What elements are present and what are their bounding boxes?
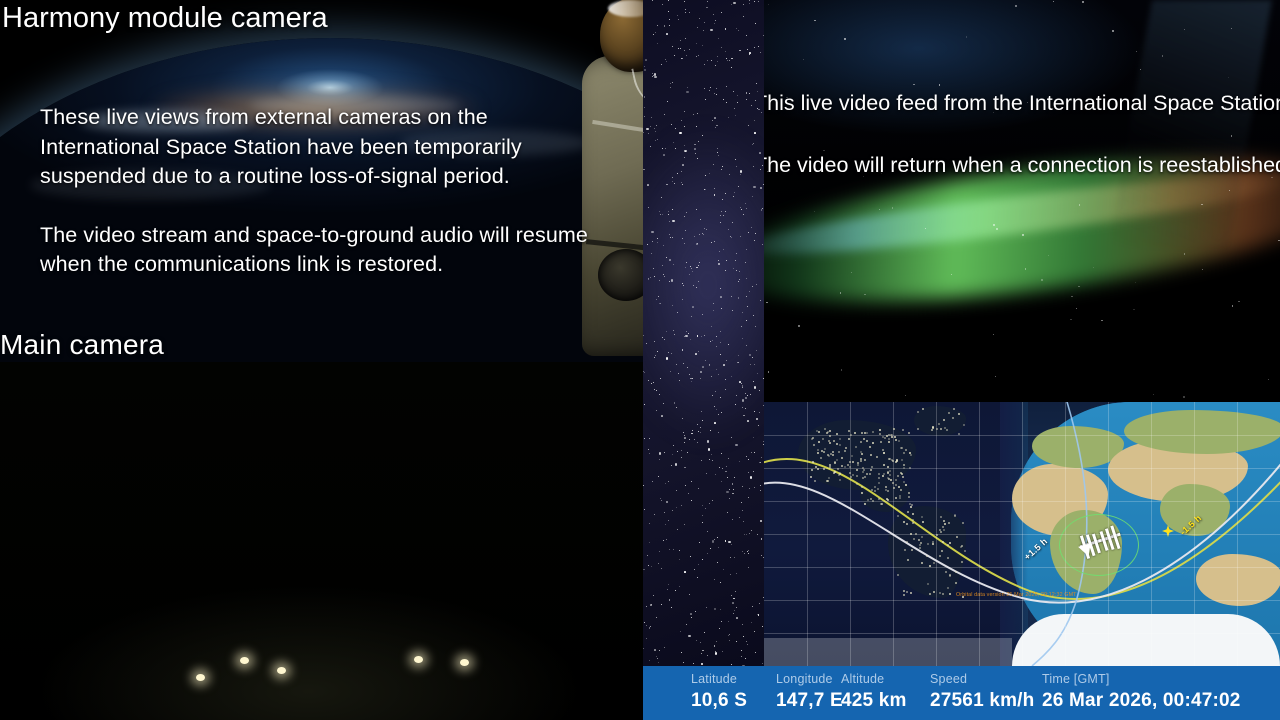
star — [679, 132, 681, 134]
star — [742, 486, 743, 487]
star — [760, 490, 761, 491]
star — [736, 607, 737, 608]
star — [715, 652, 717, 654]
star — [737, 95, 738, 96]
city-light — [838, 451, 840, 453]
star — [696, 640, 697, 641]
city-light — [881, 503, 883, 505]
star — [736, 166, 737, 167]
star — [1203, 100, 1204, 101]
star — [644, 107, 645, 108]
video-wall: These live views from external cameras o… — [0, 0, 1280, 720]
star — [653, 595, 654, 596]
star — [709, 90, 710, 91]
star — [720, 296, 722, 298]
star — [723, 99, 724, 100]
star — [1201, 204, 1202, 205]
telemetry-field: Time [GMT]26 Mar 2026, 00:47:02 — [1042, 672, 1241, 713]
star — [686, 212, 687, 213]
star — [691, 617, 692, 618]
star — [738, 30, 739, 31]
star — [748, 472, 749, 473]
star — [646, 625, 647, 626]
city-light — [917, 428, 919, 430]
star — [753, 143, 754, 144]
city-light — [958, 413, 960, 415]
star — [1202, 269, 1203, 270]
map-version-note: Orbital data version 25 Mar 2026, 20:12:… — [956, 592, 1077, 598]
city-light — [910, 592, 912, 594]
star — [665, 59, 666, 60]
star — [1225, 107, 1226, 108]
star — [754, 452, 755, 453]
star — [704, 22, 705, 23]
star — [733, 489, 734, 490]
city-light — [903, 594, 905, 596]
city-light — [844, 466, 846, 468]
star — [685, 267, 686, 268]
city-light — [818, 441, 820, 443]
star — [712, 500, 713, 501]
star — [727, 512, 728, 513]
star — [728, 229, 729, 230]
star — [698, 55, 699, 56]
city-light — [866, 440, 868, 442]
star — [716, 125, 718, 127]
star — [735, 404, 736, 405]
star — [672, 220, 674, 222]
star — [652, 73, 653, 74]
star — [702, 45, 703, 46]
star — [675, 463, 677, 465]
star — [734, 477, 735, 478]
milky-way-glow — [643, 120, 764, 450]
star — [701, 460, 702, 461]
star — [684, 437, 686, 439]
star — [663, 540, 664, 541]
star — [661, 64, 662, 65]
city-light — [841, 465, 843, 467]
star — [738, 297, 740, 299]
city-light — [897, 515, 899, 517]
star — [731, 4, 732, 5]
city-light — [854, 432, 856, 434]
city-light — [938, 423, 940, 425]
star — [698, 488, 699, 489]
star — [668, 0, 669, 1]
city-light — [943, 529, 945, 531]
star — [656, 410, 657, 411]
harmony-message: This live video feed from the Internatio… — [764, 88, 1280, 180]
star — [681, 120, 682, 121]
harmony-camera-label: Harmony module camera — [2, 2, 328, 34]
star — [727, 60, 728, 61]
city-light — [941, 550, 943, 552]
star — [722, 468, 723, 469]
star — [735, 591, 736, 592]
city-light — [878, 473, 880, 475]
telemetry-field-value: 425 km — [841, 689, 907, 713]
star — [657, 43, 658, 44]
star — [665, 483, 666, 484]
telemetry-field-label: Speed — [930, 672, 1034, 687]
harmony-message-p2: The video will return when a connection … — [764, 150, 1280, 181]
star — [725, 471, 727, 473]
star — [653, 34, 654, 35]
star — [737, 102, 738, 103]
star — [728, 458, 729, 459]
star — [723, 364, 725, 366]
star — [705, 508, 706, 509]
star — [702, 515, 703, 516]
star — [672, 82, 673, 83]
star — [654, 128, 655, 129]
star — [754, 120, 755, 121]
star — [662, 4, 663, 5]
star — [732, 493, 734, 495]
star — [664, 452, 665, 453]
star — [725, 211, 726, 212]
city-light — [940, 516, 942, 518]
star — [682, 283, 683, 284]
star — [744, 534, 745, 535]
star — [647, 184, 649, 186]
city-light — [877, 488, 879, 490]
star — [1082, 1, 1083, 2]
city-light — [889, 470, 891, 472]
star — [993, 224, 994, 225]
star — [706, 607, 707, 608]
star — [756, 83, 757, 84]
city-light — [841, 457, 843, 459]
star — [689, 49, 690, 50]
star — [732, 483, 734, 485]
star — [669, 25, 670, 26]
star — [674, 183, 675, 184]
city-light — [856, 469, 858, 471]
star — [671, 353, 672, 354]
star — [748, 553, 749, 554]
star — [646, 128, 648, 130]
telemetry-field-label: Altitude — [841, 672, 907, 687]
star — [654, 357, 655, 358]
star — [670, 237, 671, 238]
star — [736, 270, 737, 271]
city-light — [869, 473, 871, 475]
star — [684, 524, 685, 525]
star — [721, 12, 722, 13]
star — [697, 113, 698, 114]
city-light — [864, 503, 866, 505]
star — [717, 56, 718, 57]
star — [736, 573, 737, 574]
main-camera-feed[interactable]: These live views from external cameras o… — [0, 0, 643, 362]
artemis-base-feed[interactable]: Artemis II base — [0, 362, 643, 720]
star — [658, 476, 659, 477]
star — [714, 422, 716, 424]
star — [685, 485, 686, 486]
star — [714, 93, 715, 94]
star — [1184, 29, 1185, 30]
city-light — [958, 433, 960, 435]
star — [1112, 30, 1113, 31]
city-light — [888, 441, 890, 443]
city-light — [896, 460, 898, 462]
star — [652, 0, 653, 1]
star — [755, 23, 756, 24]
city-light — [912, 522, 914, 524]
star — [671, 465, 673, 467]
star — [663, 245, 664, 246]
star — [719, 467, 720, 468]
star — [761, 457, 762, 458]
star — [681, 450, 682, 451]
star — [718, 414, 719, 415]
star — [717, 537, 718, 538]
star — [748, 459, 749, 460]
city-light — [963, 424, 965, 426]
city-light — [942, 526, 944, 528]
launch-pad-scene — [0, 362, 643, 720]
city-light — [949, 574, 951, 576]
star — [651, 566, 652, 567]
star — [753, 186, 755, 188]
star — [686, 624, 687, 625]
star — [735, 444, 737, 446]
star — [726, 466, 727, 467]
star — [681, 652, 682, 653]
star — [646, 606, 647, 607]
star — [656, 125, 657, 126]
city-light — [909, 452, 911, 454]
city-light — [879, 429, 881, 431]
star — [760, 169, 761, 170]
star — [659, 452, 661, 454]
star — [745, 658, 746, 659]
star — [698, 265, 699, 266]
star — [681, 505, 682, 506]
star — [685, 335, 687, 337]
star — [655, 32, 656, 33]
telemetry-field: Altitude425 km — [841, 672, 907, 713]
star — [662, 148, 663, 149]
star — [666, 357, 668, 359]
star — [703, 30, 704, 31]
star — [687, 367, 688, 368]
city-light — [940, 428, 942, 430]
city-light — [933, 591, 935, 593]
starfield-feed[interactable] — [643, 0, 764, 666]
star — [1278, 240, 1279, 241]
city-light — [936, 428, 938, 430]
star — [656, 656, 657, 657]
pad-light — [196, 674, 205, 681]
star — [736, 641, 737, 642]
star — [734, 557, 735, 558]
star — [672, 454, 673, 455]
star — [644, 116, 645, 117]
star — [682, 58, 683, 59]
star — [748, 125, 749, 126]
star — [753, 437, 754, 438]
star — [728, 344, 729, 345]
star — [725, 51, 726, 52]
star — [720, 342, 721, 343]
star — [760, 462, 761, 463]
pad-light — [277, 667, 286, 674]
star — [1041, 279, 1042, 280]
star — [729, 634, 730, 635]
star — [1079, 204, 1080, 205]
star — [755, 233, 756, 234]
city-light — [869, 446, 871, 448]
city-light — [888, 438, 890, 440]
star — [691, 500, 692, 501]
star — [667, 101, 668, 102]
star — [741, 502, 742, 503]
star — [735, 115, 736, 116]
city-light — [910, 454, 912, 456]
star — [711, 60, 712, 61]
star — [707, 440, 709, 442]
star — [758, 425, 759, 426]
star — [648, 565, 649, 566]
star — [1183, 396, 1184, 397]
city-light — [836, 443, 838, 445]
star — [657, 658, 658, 659]
star — [644, 622, 645, 623]
city-light — [911, 549, 913, 551]
star — [717, 148, 718, 149]
city-light — [903, 464, 905, 466]
star — [664, 25, 666, 27]
star — [722, 651, 723, 652]
star — [673, 549, 674, 550]
star — [644, 509, 645, 510]
star — [697, 335, 699, 337]
star — [654, 649, 656, 651]
star — [666, 184, 668, 186]
star — [707, 553, 708, 554]
star — [758, 1, 759, 2]
star — [742, 551, 743, 552]
star — [736, 28, 737, 29]
star — [657, 238, 658, 239]
star — [691, 316, 692, 317]
city-light — [899, 497, 901, 499]
city-light — [932, 543, 934, 545]
star — [749, 3, 750, 4]
star — [678, 19, 679, 20]
star — [743, 16, 744, 17]
star — [663, 154, 665, 156]
star — [689, 374, 690, 375]
star — [684, 571, 686, 573]
star — [691, 481, 692, 482]
city-light — [867, 499, 869, 501]
city-light — [818, 431, 820, 433]
star — [673, 445, 674, 446]
iss-tracking-map[interactable]: -1.5 h +1.5 h Orbital data version 25 Ma… — [764, 402, 1280, 666]
star — [714, 579, 715, 580]
star — [751, 105, 752, 106]
star — [741, 326, 742, 327]
star — [758, 614, 760, 616]
star — [709, 459, 710, 460]
star — [752, 144, 753, 145]
star — [755, 100, 756, 101]
city-light — [919, 547, 921, 549]
city-light — [905, 449, 907, 451]
star — [659, 303, 660, 304]
star — [661, 500, 662, 501]
star — [679, 559, 680, 560]
star — [647, 555, 648, 556]
star — [1133, 309, 1134, 310]
city-light — [829, 442, 831, 444]
star — [643, 648, 644, 649]
star — [692, 430, 693, 431]
star — [733, 268, 734, 269]
star — [699, 262, 700, 263]
star — [667, 589, 668, 590]
star — [757, 534, 758, 535]
star — [661, 415, 663, 417]
main-camera-message: These live views from external cameras o… — [40, 103, 610, 280]
star — [734, 108, 735, 109]
star — [851, 107, 852, 108]
star — [753, 381, 754, 382]
star — [742, 624, 743, 625]
star — [731, 544, 732, 545]
star — [733, 613, 734, 614]
star — [755, 326, 756, 327]
star — [712, 340, 713, 341]
star — [699, 542, 700, 543]
star — [768, 4, 769, 5]
star — [681, 457, 682, 458]
city-light — [895, 439, 897, 441]
star — [686, 91, 688, 93]
star — [749, 0, 750, 1]
star — [757, 91, 758, 92]
star — [728, 541, 730, 543]
star — [705, 189, 706, 190]
star — [716, 88, 717, 89]
star — [688, 635, 690, 637]
star — [649, 453, 650, 454]
telemetry-field-label: Time [GMT] — [1042, 672, 1241, 687]
star — [668, 481, 669, 482]
star — [677, 451, 678, 452]
telemetry-field: Latitude10,6 S — [691, 672, 747, 713]
star — [706, 7, 708, 9]
star — [730, 236, 731, 237]
harmony-camera-feed[interactable]: This live video feed from the Internatio… — [764, 0, 1280, 402]
star — [714, 117, 716, 119]
star — [746, 92, 748, 94]
star — [745, 262, 746, 263]
star — [750, 364, 751, 365]
star — [654, 76, 656, 78]
star — [662, 337, 663, 338]
star — [695, 611, 696, 612]
star — [718, 374, 719, 375]
star — [702, 366, 704, 368]
star — [655, 131, 656, 132]
city-light — [866, 473, 868, 475]
star — [661, 568, 662, 569]
